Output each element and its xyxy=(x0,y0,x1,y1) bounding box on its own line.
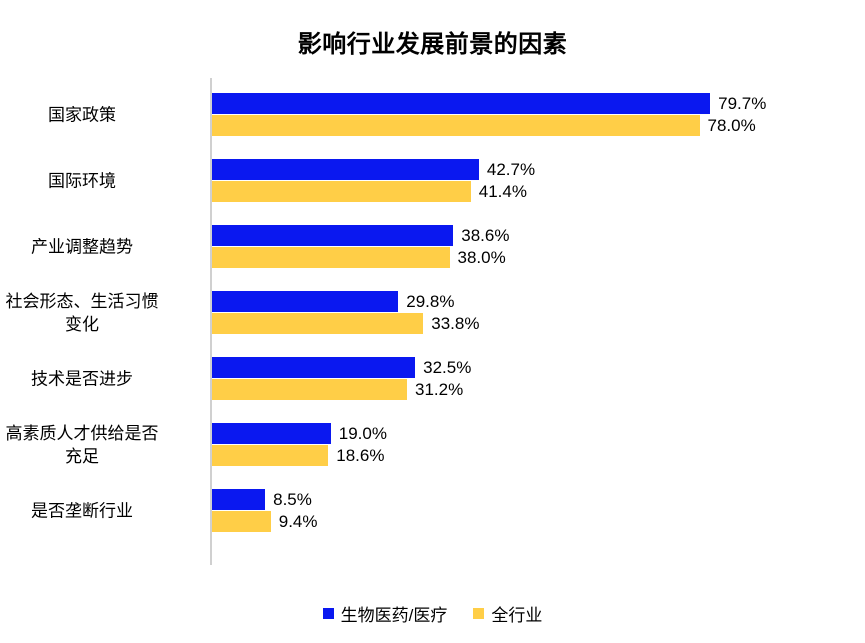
chart-title: 影响行业发展前景的因素 xyxy=(0,24,865,59)
category-label: 国际环境 xyxy=(0,170,197,193)
legend-item[interactable]: 生物医药/医疗 xyxy=(323,601,448,626)
bar-value-label: 19.0% xyxy=(339,424,387,444)
bar-value-label: 38.0% xyxy=(458,248,506,268)
legend-label: 全行业 xyxy=(491,601,542,626)
bar-group: 产业调整趋势38.6%38.0% xyxy=(0,225,865,269)
legend-swatch-icon xyxy=(473,608,484,619)
bar-value-label: 18.6% xyxy=(336,446,384,466)
category-label: 技术是否进步 xyxy=(0,368,197,391)
bar[interactable] xyxy=(212,225,453,246)
bar-value-label: 42.7% xyxy=(487,160,535,180)
chart-legend: 生物医药/医疗全行业 xyxy=(0,601,865,626)
bar[interactable] xyxy=(212,159,479,180)
bar-value-label: 79.7% xyxy=(718,94,766,114)
bar-value-label: 41.4% xyxy=(479,182,527,202)
bar[interactable] xyxy=(212,115,700,136)
bar-chart: 影响行业发展前景的因素 国家政策79.7%78.0%国际环境42.7%41.4%… xyxy=(0,0,865,643)
bar[interactable] xyxy=(212,379,407,400)
category-label: 国家政策 xyxy=(0,104,197,127)
bar[interactable] xyxy=(212,313,423,334)
bar-group: 国际环境42.7%41.4% xyxy=(0,159,865,203)
bar[interactable] xyxy=(212,511,271,532)
bar-value-label: 8.5% xyxy=(273,490,312,510)
legend-item[interactable]: 全行业 xyxy=(473,601,542,626)
bar-value-label: 78.0% xyxy=(708,116,756,136)
bar[interactable] xyxy=(212,181,471,202)
bar-value-label: 31.2% xyxy=(415,380,463,400)
bar[interactable] xyxy=(212,423,331,444)
bar[interactable] xyxy=(212,489,265,510)
category-label: 高素质人才供给是否 充足 xyxy=(0,422,197,468)
bar-group: 国家政策79.7%78.0% xyxy=(0,93,865,137)
bar-group: 技术是否进步32.5%31.2% xyxy=(0,357,865,401)
bar[interactable] xyxy=(212,357,415,378)
category-label: 产业调整趋势 xyxy=(0,236,197,259)
bar[interactable] xyxy=(212,445,328,466)
bar-group: 社会形态、生活习惯 变化29.8%33.8% xyxy=(0,291,865,335)
legend-swatch-icon xyxy=(323,608,334,619)
category-label: 是否垄断行业 xyxy=(0,500,197,523)
bar-value-label: 29.8% xyxy=(406,292,454,312)
legend-label: 生物医药/医疗 xyxy=(341,601,448,626)
category-label: 社会形态、生活习惯 变化 xyxy=(0,290,197,336)
bar-value-label: 38.6% xyxy=(461,226,509,246)
bar[interactable] xyxy=(212,93,710,114)
plot-area: 国家政策79.7%78.0%国际环境42.7%41.4%产业调整趋势38.6%3… xyxy=(0,78,865,568)
bar-group: 是否垄断行业8.5%9.4% xyxy=(0,489,865,533)
bar-group: 高素质人才供给是否 充足19.0%18.6% xyxy=(0,423,865,467)
bar[interactable] xyxy=(212,247,450,268)
bar-value-label: 32.5% xyxy=(423,358,471,378)
bar[interactable] xyxy=(212,291,398,312)
bar-value-label: 9.4% xyxy=(279,512,318,532)
bar-value-label: 33.8% xyxy=(431,314,479,334)
